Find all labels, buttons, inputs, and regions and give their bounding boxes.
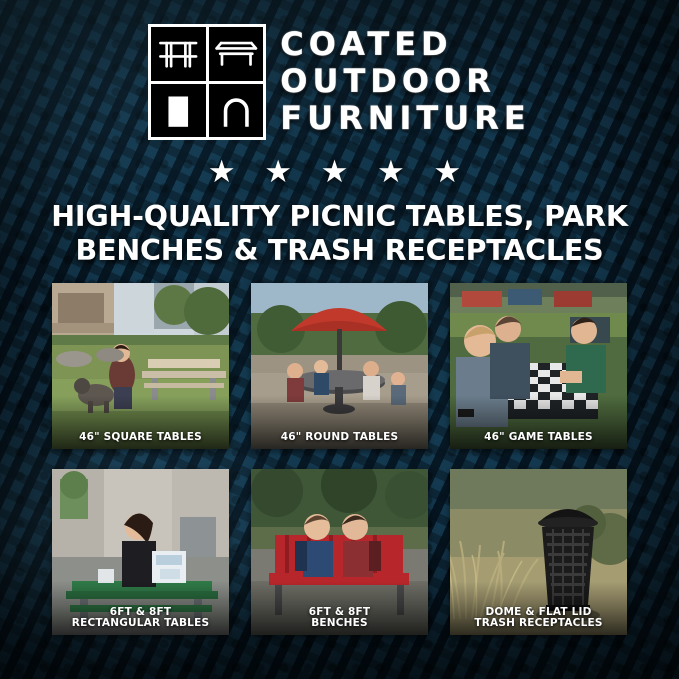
logo-icon-grid [148,24,266,140]
tile-caption: 46" SQUARE TABLES [56,432,225,444]
arched-trash-can-icon [209,84,264,138]
product-tile[interactable]: 46" ROUND TABLES [251,283,428,449]
trash-receptacle-icon [151,84,206,138]
star-rating: ★ ★ ★ ★ ★ [0,156,679,187]
page-title: HIGH-QUALITY PICNIC TABLES, PARK BENCHES… [34,200,645,267]
product-tile[interactable]: 46" SQUARE TABLES [52,283,229,449]
tile-caption: 46" ROUND TABLES [255,432,424,444]
tile-caption: 6FT & 8FT RECTANGULAR TABLES [56,607,225,631]
product-tile[interactable]: DOME & FLAT LID TRASH RECEPTACLES [450,469,627,635]
product-tile-grid: 46" SQUARE TABLES [52,283,627,635]
tile-caption: 6FT & 8FT BENCHES [255,607,424,631]
product-tile[interactable]: 6FT & 8FT RECTANGULAR TABLES [52,469,229,635]
brand-logo: COATED OUTDOOR FURNITURE [0,24,679,140]
brand-wordmark: COATED OUTDOOR FURNITURE [280,24,530,137]
tile-caption: 46" GAME TABLES [454,432,623,444]
headline-line-2: BENCHES & TRASH RECEPTACLES [34,234,645,268]
headline-line-1: HIGH-QUALITY PICNIC TABLES, PARK [34,200,645,234]
brand-line-3: FURNITURE [280,100,530,137]
park-bench-icon [209,27,264,81]
advertisement-image: COATED OUTDOOR FURNITURE ★ ★ ★ ★ ★ HIGH-… [0,0,679,679]
brand-line-2: OUTDOOR [280,63,530,100]
product-tile[interactable]: 46" GAME TABLES [450,283,627,449]
picnic-table-icon [151,27,206,81]
brand-line-1: COATED [280,26,530,63]
tile-caption: DOME & FLAT LID TRASH RECEPTACLES [454,607,623,631]
product-tile[interactable]: 6FT & 8FT BENCHES [251,469,428,635]
